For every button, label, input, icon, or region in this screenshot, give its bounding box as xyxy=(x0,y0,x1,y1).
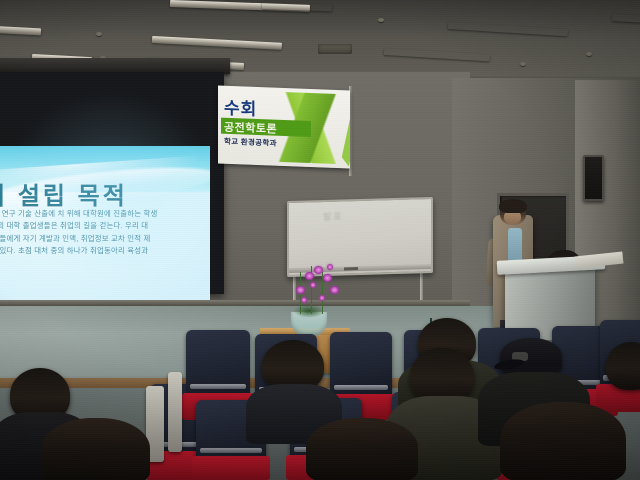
ceiling-light xyxy=(612,14,640,23)
banner-title: 수회 xyxy=(224,94,257,120)
banner-affiliation: 학교 환경공학과 xyxy=(224,136,277,149)
foliage xyxy=(288,302,330,320)
whiteboard: 발표 xyxy=(287,197,433,277)
slide-body-line: 행 및 졸업생들에게 자기 계발과 인맥, 취업정보 교차 인적 제 xyxy=(0,233,210,245)
sprinkler-head xyxy=(520,62,526,66)
slide-body-line: 고는 대부분의 대학 졸업생들은 취업의 길을 걷는다. 우리 대 xyxy=(0,220,210,232)
orchid-bloom xyxy=(327,264,333,270)
wall-baseboard xyxy=(0,300,470,306)
whiteboard-marker xyxy=(344,267,358,270)
armrest xyxy=(168,372,182,452)
ceiling-vent xyxy=(318,44,352,54)
auditorium-photo: 아리 설립 목적 업에 교 전공 연구 기술 산출에 치 위해 대학원에 진출하… xyxy=(0,0,640,480)
ceiling-light xyxy=(448,22,568,36)
orchid-bloom xyxy=(296,286,305,294)
wall-speaker xyxy=(583,155,604,201)
whiteboard-text: 발표 xyxy=(323,209,344,223)
audience-head xyxy=(306,418,418,480)
audience-head xyxy=(500,402,626,480)
slide-title: 아리 설립 목적 xyxy=(0,176,128,211)
slide-body-line: 업에 교 전공 연구 기술 산출에 치 위해 대학원에 진출하는 학생 xyxy=(0,208,210,220)
banner-subtitle: 공전학토론 xyxy=(221,118,311,137)
sprinkler-head xyxy=(96,32,102,36)
cap-logo xyxy=(512,352,528,361)
orchid-bloom xyxy=(305,272,314,280)
audience-head xyxy=(42,418,150,480)
orchid-bloom xyxy=(319,295,325,301)
orchid-bloom xyxy=(310,282,316,288)
audience-cap xyxy=(500,338,562,376)
orchid-bloom xyxy=(301,297,307,303)
orchid-bloom xyxy=(323,274,332,282)
event-banner: 수회 공전학토론 학교 환경공학과 xyxy=(218,85,350,168)
ceiling-light xyxy=(152,36,282,50)
ceiling-light xyxy=(0,26,41,35)
orchid-bloom xyxy=(330,286,339,294)
ceiling-light xyxy=(384,48,490,61)
sprinkler-head xyxy=(586,52,592,56)
sprinkler-head xyxy=(378,18,384,22)
orchid-bloom xyxy=(314,266,323,274)
presenter-hair xyxy=(499,199,527,213)
slide-body-text: 업에 교 전공 연구 기술 산출에 치 위해 대학원에 진출하는 학생 고는 대… xyxy=(0,208,210,258)
projection-screen-frame: 아리 설립 목적 업에 교 전공 연구 기술 산출에 치 위해 대학원에 진출하… xyxy=(0,72,224,294)
slide-body-line: 로 운영하고 있다. 초점 대처 중의 하나가 취업동아리 육성과 xyxy=(0,245,210,257)
